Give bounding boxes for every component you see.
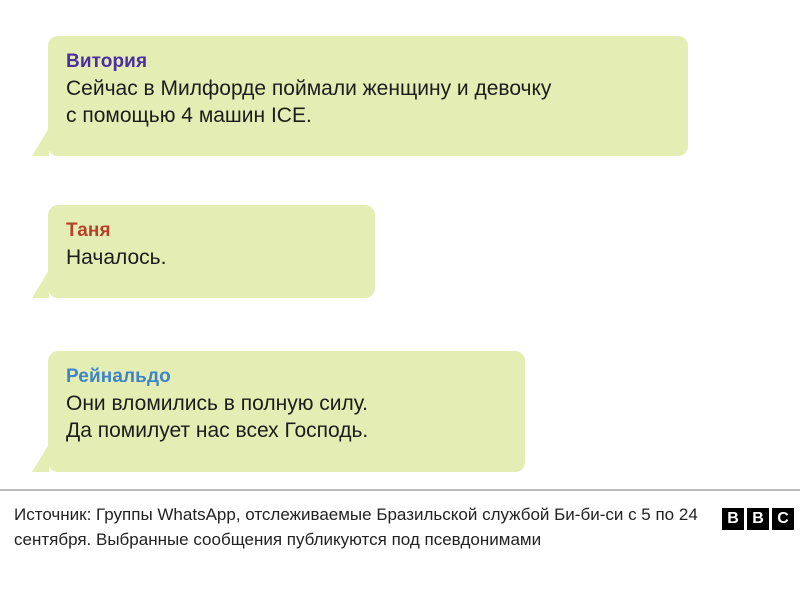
message-text-line: Сейчас в Милфорде поймали женщину и дево… — [66, 75, 670, 102]
bbc-logo-letter: B — [747, 508, 769, 530]
bbc-logo: B B C — [722, 508, 794, 530]
message-sender-name: Таня — [66, 219, 357, 243]
message-bubble: Рейнальдо Они вломились в полную силу. Д… — [48, 351, 525, 472]
chat-transcript: Витория Сейчас в Милфорде поймали женщин… — [0, 0, 800, 489]
message-sender-name: Рейнальдо — [66, 365, 507, 389]
message-text-line: Они вломились в полную силу. — [66, 390, 507, 417]
bubble-tail-icon — [32, 270, 49, 298]
bbc-logo-letter: C — [772, 508, 794, 530]
message-text-line: Да помилует нас всех Господь. — [66, 417, 507, 444]
message-bubble: Таня Началось. — [48, 205, 375, 298]
bubble-tail-icon — [32, 444, 49, 472]
message-text-line: Началось. — [66, 244, 357, 271]
bbc-logo-letter: B — [722, 508, 744, 530]
footer-bar: Источник: Группы WhatsApp, отслеживаемые… — [0, 489, 800, 594]
source-caption: Источник: Группы WhatsApp, отслеживаемые… — [14, 502, 704, 552]
message-text-line: с помощью 4 машин ICE. — [66, 102, 670, 129]
message-sender-name: Витория — [66, 50, 670, 74]
message-bubble: Витория Сейчас в Милфорде поймали женщин… — [48, 36, 688, 156]
bubble-tail-icon — [32, 128, 49, 156]
